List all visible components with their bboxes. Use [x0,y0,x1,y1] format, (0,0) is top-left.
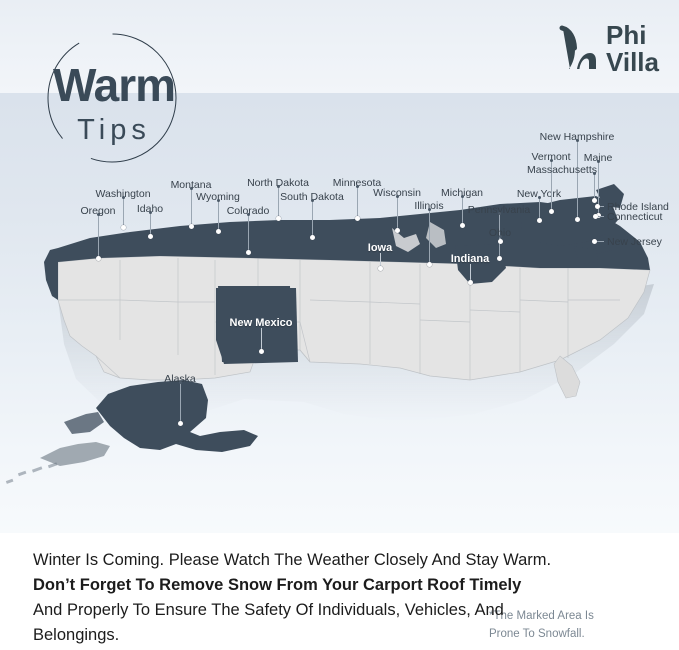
leader-anchor-dot [217,199,220,202]
phivilla-h-mark-icon [557,25,597,73]
leader-line-wisconsin [397,196,398,230]
leader-line-minnesota [357,186,358,218]
badge-title: Warm [36,62,192,108]
leader-anchor-dot [396,195,399,198]
leader-line-colorado [248,214,249,252]
brand-logo-line1: Phi [606,22,659,49]
map-dot-minnesota [355,216,360,221]
caption-line-1: Winter Is Coming. Please Watch The Weath… [33,548,648,573]
map-dot-wyoming [216,229,221,234]
map-dot-michigan [460,223,465,228]
map-label-connecticut: Connecticut [607,212,662,223]
map-dot-vermont [549,209,554,214]
leader-line-washington [123,197,124,227]
leader-anchor-dot [247,213,250,216]
caption-line-2: Don’t Forget To Remove Snow From Your Ca… [33,573,648,598]
leader-line-michigan [462,196,463,225]
caption-line-3: And Properly To Ensure The Safety Of Ind… [33,598,648,623]
map-dot-north-dakota [276,216,281,221]
leader-line-idaho [150,212,151,236]
leader-line-wyoming [218,200,219,231]
map-dot-rhode-island [595,204,600,209]
brand-logo-text: Phi Villa [606,22,659,75]
leader-anchor-dot [179,381,182,384]
brand-logo-line2: Villa [606,49,659,76]
map-dot-new-mexico [259,349,264,354]
leader-line-new-hampshire [577,140,578,219]
map-dot-idaho [148,234,153,239]
map-dot-illinois [427,262,432,267]
leader-line-oregon [98,214,99,258]
leader-anchor-dot [498,212,501,215]
map-dot-wisconsin [395,228,400,233]
caption-line-4: Belongings. [33,623,648,648]
brand-logo: Phi Villa [557,18,659,80]
map-dot-oregon [96,256,101,261]
leader-anchor-dot [428,208,431,211]
map-dot-alaska [178,421,183,426]
leader-line-north-dakota [278,186,279,218]
leader-anchor-dot [538,196,541,199]
leader-anchor-dot [97,213,100,216]
map-dot-connecticut [593,214,598,219]
infographic-root: Warm Tips Phi Villa [0,0,679,650]
leader-anchor-dot [593,172,596,175]
map-dot-new-york [537,218,542,223]
leader-anchor-dot [122,196,125,199]
map-label-new-jersey: New Jersey [607,237,662,248]
map-dot-iowa [378,266,383,271]
leader-line-south-dakota [312,200,313,237]
usa-snowfall-map: OregonWashingtonIdahoMontanaWyomingColor… [0,150,679,530]
map-dot-indiana [468,280,473,285]
leader-anchor-dot [311,199,314,202]
leader-line-illinois [429,209,430,264]
map-label-massachusetts: Massachusetts [527,165,597,176]
leader-line-massachusetts [594,173,595,200]
leader-anchor-dot [277,185,280,188]
caption-block: Winter Is Coming. Please Watch The Weath… [33,548,648,648]
leader-anchor-dot [149,211,152,214]
leader-anchor-dot [461,195,464,198]
map-dot-south-dakota [310,235,315,240]
leader-anchor-dot [356,185,359,188]
leader-anchor-dot [499,235,502,238]
leader-anchor-dot [190,187,193,190]
leader-anchor-dot [576,139,579,142]
map-dot-ohio [498,239,503,244]
warm-tips-badge: Warm Tips [30,30,195,170]
map-dot-massachusetts [592,198,597,203]
map-dot-washington [121,225,126,230]
leader-line-new-york [539,197,540,220]
leader-line-montana [191,188,192,226]
badge-subtitle: Tips [36,116,192,145]
leader-line-new-mexico [261,328,262,351]
map-dot-new-hampshire [575,217,580,222]
leader-line-alaska [180,382,181,423]
map-dot-montana [189,224,194,229]
leader-anchor-dot [550,159,553,162]
map-dot-new-jersey [592,239,597,244]
leader-anchor-dot [597,160,600,163]
map-dot-colorado [246,250,251,255]
map-dot-pennsylvania [497,256,502,261]
